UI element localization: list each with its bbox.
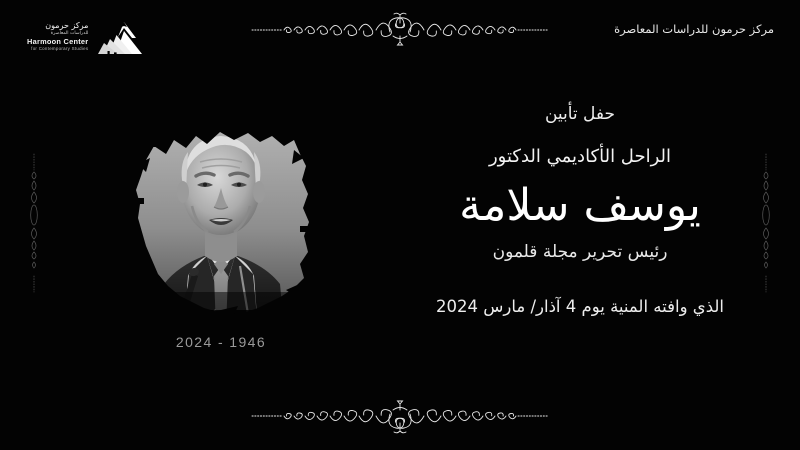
ornament-divider-bottom-icon — [250, 400, 550, 434]
memorial-text-block: حفل تأبين الراحل الأكاديمي الدكتور يوسف … — [392, 104, 768, 318]
ceremony-label: حفل تأبين — [392, 104, 768, 124]
deceased-title: الراحل الأكاديمي الدكتور — [392, 146, 768, 167]
ornament-divider-top-icon — [250, 12, 550, 46]
organisation-name: مركز حرمون للدراسات المعاصرة — [614, 22, 774, 36]
death-date-line: الذي وافته المنية يوم 4 آذار/ مارس 2024 — [392, 296, 768, 318]
deceased-role: رئيس تحرير مجلة قلمون — [392, 242, 768, 262]
logo-english-name: Harmoon Center — [27, 38, 88, 46]
portrait-block: 2024 - 1946 — [108, 106, 334, 358]
deceased-name: يوسف سلامة — [392, 181, 768, 232]
mountain-icon — [94, 18, 146, 56]
poster-header: مركز حرمون للدراسات المعاصرة Harmoon Cen… — [0, 0, 800, 70]
memorial-poster: مركز حرمون للدراسات المعاصرة Harmoon Cen… — [0, 0, 800, 450]
logo-arabic-subtitle: للدراسات المعاصرة — [51, 31, 89, 36]
logo-text-group: مركز حرمون للدراسات المعاصرة Harmoon Cen… — [27, 22, 88, 52]
harmoon-center-logo: مركز حرمون للدراسات المعاصرة Harmoon Cen… — [27, 18, 146, 56]
portrait-photo — [108, 106, 334, 328]
ornament-vertical-left-icon — [26, 152, 42, 294]
life-years: 2024 - 1946 — [108, 334, 334, 350]
logo-arabic-name: مركز حرمون — [45, 22, 88, 31]
logo-english-subtitle: for Contemporary Studies — [31, 47, 88, 52]
